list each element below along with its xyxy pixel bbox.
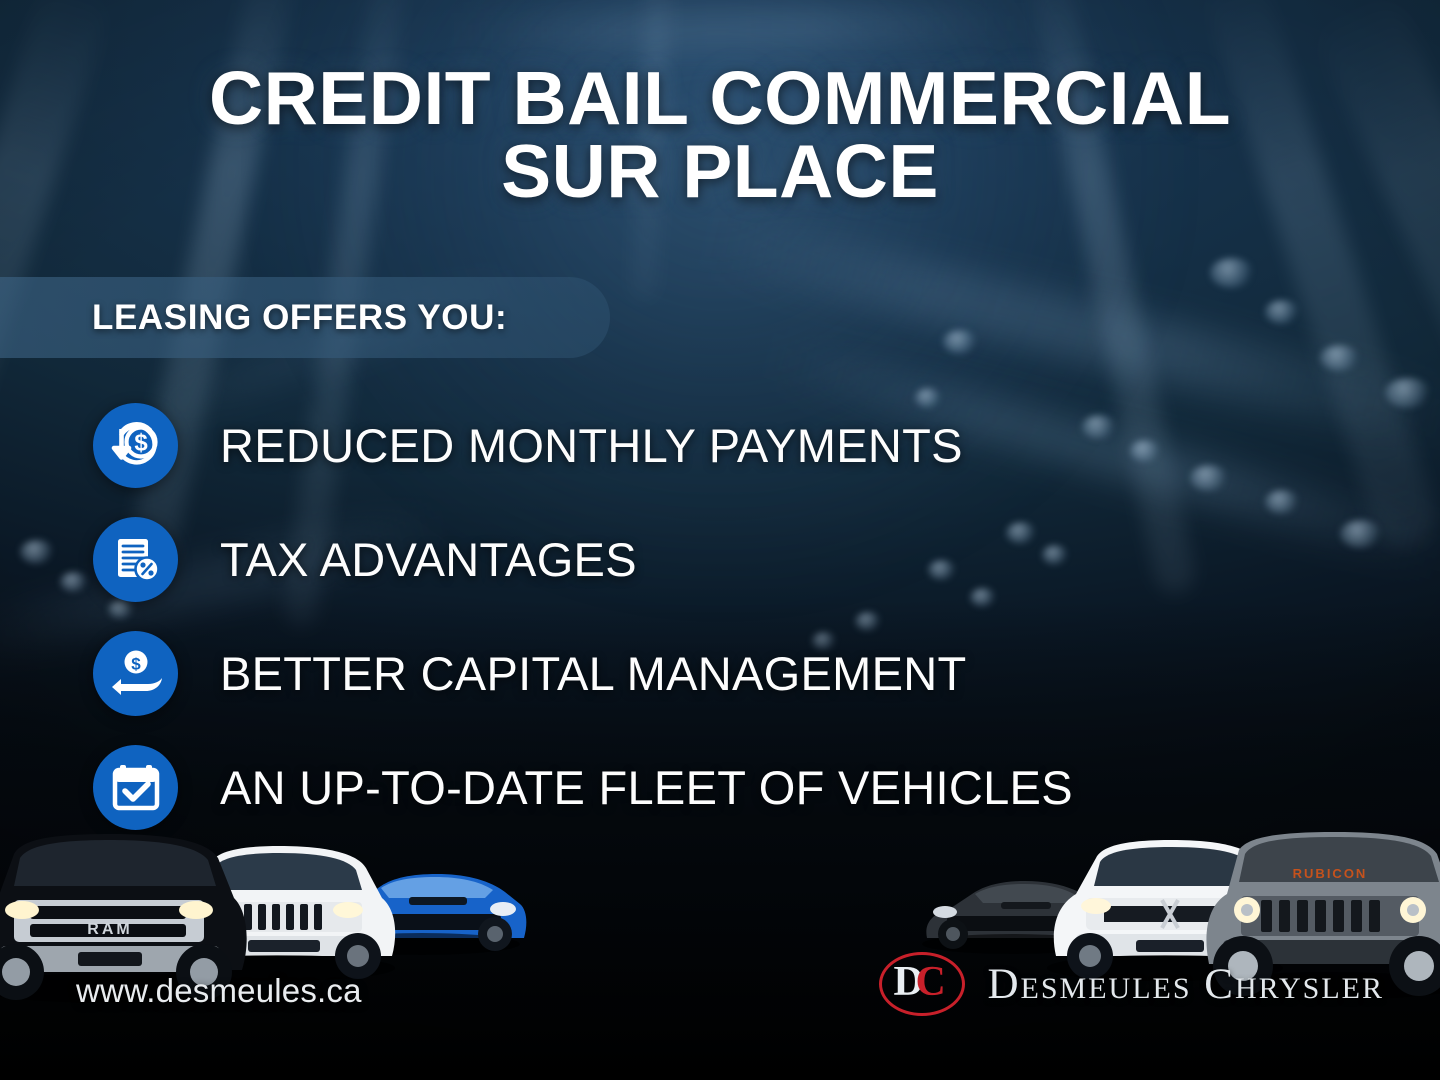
dealership-logo: D C Desmeules Chrysler <box>879 952 1384 1016</box>
svg-text:RUBICON: RUBICON <box>1293 866 1368 881</box>
svg-text:$: $ <box>131 655 141 674</box>
list-item: TAX ADVANTAGES <box>93 504 1323 614</box>
list-item-label: BETTER CAPITAL MANAGEMENT <box>220 646 967 701</box>
list-item-label: REDUCED MONTHLY PAYMENTS <box>220 418 963 473</box>
svg-text:$: $ <box>134 430 148 457</box>
list-item: $ BETTER CAPITAL MANAGEMENT <box>93 618 1323 728</box>
benefits-list: $ REDUCED MONTHLY PAYMENTS <box>93 390 1323 842</box>
banner-label: LEASING OFFERS YOU: <box>0 298 507 338</box>
promo-slide: CREDIT BAIL COMMERCIAL SUR PLACE LEASING… <box>0 0 1440 1080</box>
document-percent-icon <box>93 517 178 602</box>
title-line-1: CREDIT BAIL COMMERCIAL <box>209 56 1231 140</box>
money-down-arrow-icon: $ <box>93 403 178 488</box>
logo-wordmark: Desmeules Chrysler <box>987 960 1384 1009</box>
calendar-check-icon <box>93 745 178 830</box>
list-item-label: TAX ADVANTAGES <box>220 532 637 587</box>
list-item-label: AN UP-TO-DATE FLEET OF VEHICLES <box>220 760 1073 815</box>
page-title: CREDIT BAIL COMMERCIAL SUR PLACE <box>0 62 1440 208</box>
monogram-letter-c: C <box>915 961 945 1003</box>
website-url[interactable]: www.desmeules.ca <box>76 972 362 1010</box>
list-item: $ REDUCED MONTHLY PAYMENTS <box>93 390 1323 500</box>
vehicle-lineup: RAM <box>0 820 1440 1080</box>
hand-coin-icon: $ <box>93 631 178 716</box>
title-line-2: SUR PLACE <box>90 135 1350 208</box>
leasing-offers-banner: LEASING OFFERS YOU: <box>0 277 610 358</box>
dc-monogram-icon: D C <box>879 952 965 1016</box>
svg-text:RAM: RAM <box>87 921 132 938</box>
